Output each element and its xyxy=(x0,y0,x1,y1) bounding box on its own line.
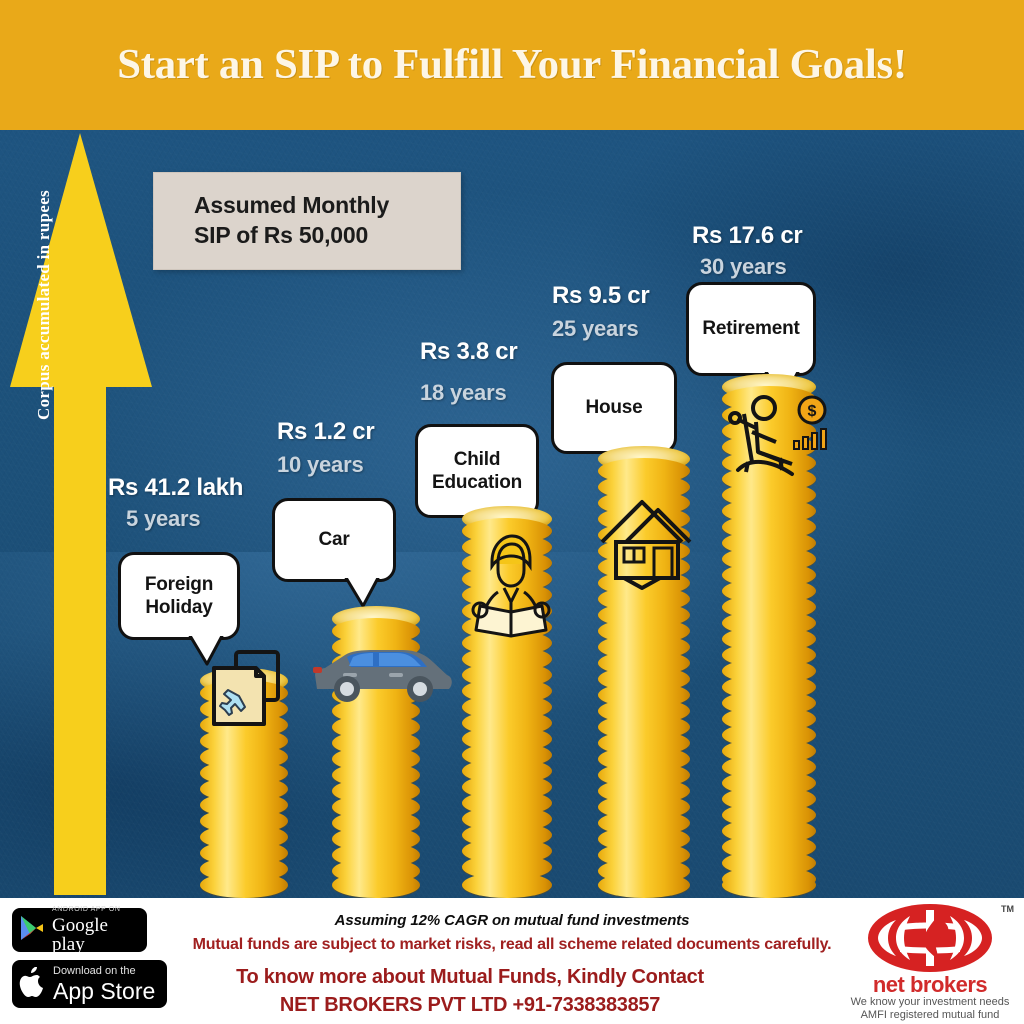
goal-bubble-house[interactable]: House xyxy=(551,362,677,454)
car-icon xyxy=(307,645,457,707)
amount-label-4: Rs 9.5 cr xyxy=(552,282,649,310)
years-label-2: 10 years xyxy=(277,452,364,478)
goal-label-5: Retirement xyxy=(702,317,799,340)
logo-name: net brokers xyxy=(840,972,1020,998)
amount-label-1: Rs 41.2 lakh xyxy=(108,474,243,502)
contact-line-2[interactable]: NET BROKERS PVT LTD +91-7338383857 xyxy=(120,994,820,1017)
assumption-line-2: SIP of Rs 50,000 xyxy=(194,221,460,251)
footer: ANDROID APP ON Google play Download on t… xyxy=(0,898,1024,1024)
student-reading-icon xyxy=(468,530,554,640)
goal-bubble-retirement[interactable]: Retirement xyxy=(686,282,816,376)
dollar-growth-icon: $ xyxy=(790,395,842,451)
goal-bubble-foreign-holiday[interactable]: Foreign Holiday xyxy=(118,552,240,640)
goal-bubble-car[interactable]: Car xyxy=(272,498,396,582)
trademark-symbol: TM xyxy=(1001,904,1014,914)
svg-text:$: $ xyxy=(808,403,817,420)
years-label-3: 18 years xyxy=(420,380,507,406)
y-axis-label: Corpus accumulated in rupees xyxy=(34,190,54,420)
assumption-box: Assumed Monthly SIP of Rs 50,000 xyxy=(153,172,461,270)
logo-tagline-1: We know your investment needs xyxy=(838,996,1022,1010)
house-icon xyxy=(596,490,694,590)
net-brokers-logo[interactable]: TM net brokers We know your investment n… xyxy=(840,902,1020,1022)
amount-label-5: Rs 17.6 cr xyxy=(692,222,802,250)
logo-tagline-2: AMFI registered mutual fund distributor xyxy=(838,1009,1022,1024)
years-label-1: 5 years xyxy=(126,506,200,532)
goal-label-2: Car xyxy=(318,528,349,551)
years-label-4: 25 years xyxy=(552,316,639,342)
amount-label-3: Rs 3.8 cr xyxy=(420,338,517,366)
amount-label-2: Rs 1.2 cr xyxy=(277,418,374,446)
airplane-ticket-icon xyxy=(206,646,292,734)
infographic-page: Start an SIP to Fulfill Your Financial G… xyxy=(0,0,1024,1024)
page-title: Start an SIP to Fulfill Your Financial G… xyxy=(117,41,907,89)
assumption-line-1: Assumed Monthly xyxy=(194,191,460,221)
bubble-tail-2 xyxy=(343,576,383,606)
goal-label-3a: Child xyxy=(454,448,501,471)
goal-label-3b: Education xyxy=(432,471,522,494)
apple-icon xyxy=(19,966,45,1003)
goal-label-1a: Foreign xyxy=(145,573,213,596)
years-label-5: 30 years xyxy=(700,254,787,280)
goal-bubble-child-education[interactable]: Child Education xyxy=(415,424,539,518)
contact-line-1: To know more about Mutual Funds, Kindly … xyxy=(120,966,820,989)
goal-label-1b: Holiday xyxy=(145,596,212,619)
header-banner: Start an SIP to Fulfill Your Financial G… xyxy=(0,0,1024,130)
goal-label-4: House xyxy=(585,396,642,419)
